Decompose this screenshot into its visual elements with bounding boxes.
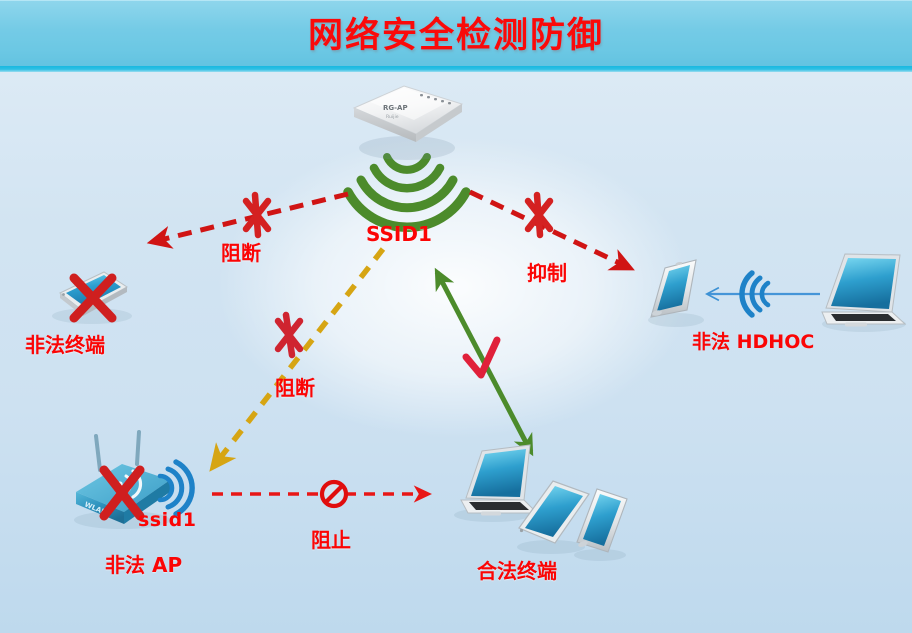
page-title: 网络安全检测防御 [0,12,912,60]
link-block-rogue-ap [213,249,383,467]
central-ap-device: RG-AP Ruijie [354,86,462,160]
node-label-rogue-terminal: 非法终端 [25,329,105,358]
rogue-adhoc-smartphone-icon [648,260,704,327]
adhoc-blue-link [708,273,820,315]
rogue-adhoc-laptop-icon [822,254,906,332]
link-block-terminal [152,194,348,242]
prohibit-marker [321,481,348,508]
diagram-canvas: RG-AP Ruijie [0,72,912,633]
rogue-ap-ssid-label: ssid1 [138,509,196,531]
label-block-terminal: 阻断 [221,237,261,266]
link-allow-legit-terminals [437,272,531,452]
x-marker-block-rogue-ap [278,315,300,355]
svg-text:Ruijie: Ruijie [386,114,399,120]
central-ap-wifi-arcs [348,157,466,227]
x-marker-suppress-adhoc [528,195,550,235]
legit-laptop-icon [454,445,537,522]
node-label-rogue-adhoc: 非法 HDHOC [692,327,814,354]
svg-text:RG-AP: RG-AP [383,104,408,112]
legit-tablet-icon [517,481,589,554]
label-block-rogue-ap: 阻断 [275,372,315,401]
diagram-page: 网络安全检测防御 [0,0,912,633]
label-prevent-ap-legit: 阻止 [311,524,351,553]
x-marker-block-terminal [246,195,268,235]
link-prevent-ap-legit [212,481,428,508]
central-ap-ssid-label: SSID1 [366,222,432,246]
label-suppress-adhoc: 抑制 [527,257,567,286]
node-label-legit-terminals: 合法终端 [477,555,557,584]
node-label-rogue-ap: 非法 AP [105,549,182,578]
